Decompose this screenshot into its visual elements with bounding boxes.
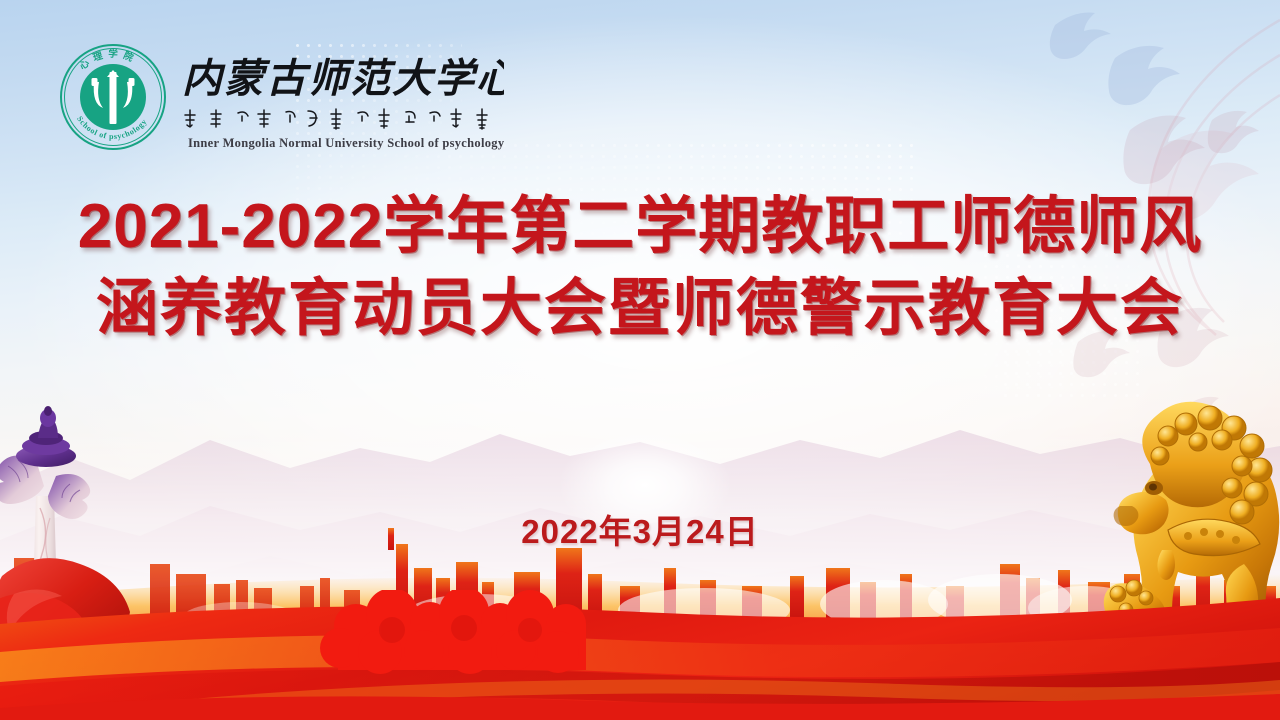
brand-name-cn: 内蒙古师范大学心理学院 <box>182 48 504 108</box>
psi-emblem-logo: 心理学院 School of psychology <box>58 42 168 152</box>
title-block: 2021-2022学年第二学期教职工师德师风 涵养教育动员大会暨师德警示教育大会 <box>0 186 1280 350</box>
title-line-1: 2021-2022学年第二学期教职工师德师风 <box>0 186 1280 268</box>
banner-stage: 心理学院 School of psychology 内蒙古师范大学心理学院 <box>0 0 1280 720</box>
institution-header: 心理学院 School of psychology 内蒙古师范大学心理学院 <box>58 42 504 152</box>
red-silk-ribbon-wave <box>0 590 1280 720</box>
title-line-2: 涵养教育动员大会暨师德警示教育大会 <box>0 268 1280 350</box>
brand-name-en: Inner Mongolia Normal University School … <box>182 136 504 151</box>
brand-cn-text: 内蒙古师范大学心理学院 <box>182 56 504 101</box>
brand-name-mongolian <box>182 106 504 132</box>
